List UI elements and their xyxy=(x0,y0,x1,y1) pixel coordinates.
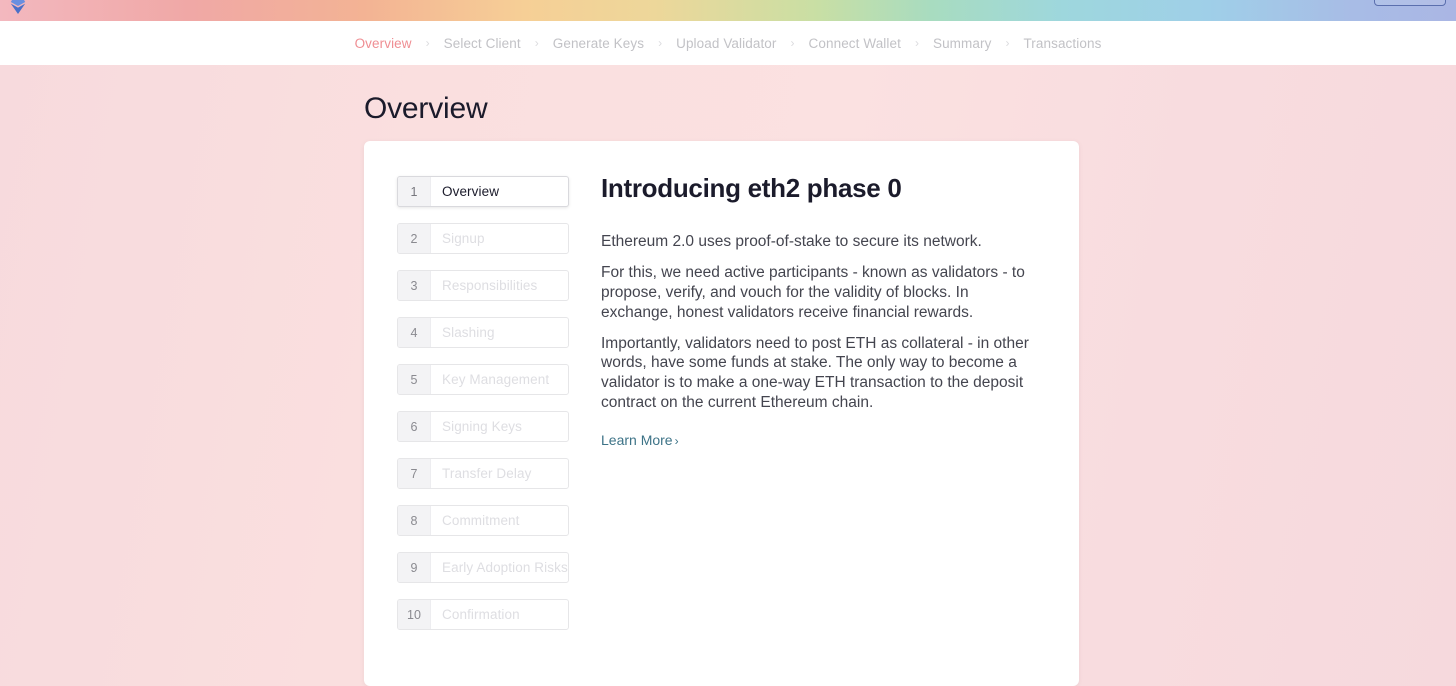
breadcrumb-separator: › xyxy=(779,36,807,50)
step-number: 5 xyxy=(398,365,431,394)
breadcrumb-item-upload-validator[interactable]: Upload Validator xyxy=(674,36,778,51)
learn-more-label: Learn More xyxy=(601,432,673,448)
overview-card: 1Overview2Signup3Responsibilities4Slashi… xyxy=(364,141,1079,686)
breadcrumb-item-select-client[interactable]: Select Client xyxy=(442,36,523,51)
step-label: Slashing xyxy=(431,318,568,347)
step-number: 1 xyxy=(398,177,431,206)
breadcrumb-separator: › xyxy=(993,36,1021,50)
step-item-commitment[interactable]: 8Commitment xyxy=(397,505,569,536)
step-item-early-adoption-risks[interactable]: 9Early Adoption Risks xyxy=(397,552,569,583)
ethereum-logo-icon[interactable] xyxy=(8,0,28,14)
step-item-key-management[interactable]: 5Key Management xyxy=(397,364,569,395)
step-number: 10 xyxy=(398,600,431,629)
step-item-slashing[interactable]: 4Slashing xyxy=(397,317,569,348)
content-body: Ethereum 2.0 uses proof-of-stake to secu… xyxy=(601,232,1039,413)
breadcrumb-item-overview[interactable]: Overview xyxy=(353,36,414,51)
step-label: Transfer Delay xyxy=(431,459,568,488)
content-paragraph: For this, we need active participants - … xyxy=(601,263,1039,322)
step-label: Overview xyxy=(431,177,568,206)
content-paragraph: Ethereum 2.0 uses proof-of-stake to secu… xyxy=(601,232,1039,252)
step-label: Confirmation xyxy=(431,600,568,629)
step-number: 3 xyxy=(398,271,431,300)
step-item-overview[interactable]: 1Overview xyxy=(397,176,569,207)
step-number: 6 xyxy=(398,412,431,441)
breadcrumb-item-generate-keys[interactable]: Generate Keys xyxy=(551,36,646,51)
step-number: 2 xyxy=(398,224,431,253)
step-number: 9 xyxy=(398,553,431,582)
step-item-signup[interactable]: 2Signup xyxy=(397,223,569,254)
breadcrumb: Overview›Select Client›Generate Keys›Upl… xyxy=(353,36,1104,51)
content-panel: Introducing eth2 phase 0 Ethereum 2.0 us… xyxy=(569,173,1079,686)
breadcrumb-item-summary[interactable]: Summary xyxy=(931,36,993,51)
content-paragraph: Importantly, validators need to post ETH… xyxy=(601,334,1039,413)
learn-more-link[interactable]: Learn More› xyxy=(601,432,679,448)
breadcrumb-bar: Overview›Select Client›Generate Keys›Upl… xyxy=(0,21,1456,65)
chevron-right-icon: › xyxy=(675,434,679,448)
breadcrumb-separator: › xyxy=(414,36,442,50)
step-number: 4 xyxy=(398,318,431,347)
app-root: Overview›Select Client›Generate Keys›Upl… xyxy=(0,0,1456,686)
step-item-responsibilities[interactable]: 3Responsibilities xyxy=(397,270,569,301)
breadcrumb-separator: › xyxy=(646,36,674,50)
step-item-transfer-delay[interactable]: 7Transfer Delay xyxy=(397,458,569,489)
page-title: Overview xyxy=(364,92,487,126)
top-gradient-bar xyxy=(0,0,1456,21)
step-label: Responsibilities xyxy=(431,271,568,300)
step-label: Key Management xyxy=(431,365,568,394)
step-item-signing-keys[interactable]: 6Signing Keys xyxy=(397,411,569,442)
step-number: 7 xyxy=(398,459,431,488)
step-label: Signup xyxy=(431,224,568,253)
step-list: 1Overview2Signup3Responsibilities4Slashi… xyxy=(364,173,569,686)
step-label: Signing Keys xyxy=(431,412,568,441)
breadcrumb-separator: › xyxy=(903,36,931,50)
step-number: 8 xyxy=(398,506,431,535)
step-label: Early Adoption Risks xyxy=(431,553,568,582)
breadcrumb-separator: › xyxy=(523,36,551,50)
content-title: Introducing eth2 phase 0 xyxy=(601,173,1039,204)
step-item-confirmation[interactable]: 10Confirmation xyxy=(397,599,569,630)
breadcrumb-item-transactions[interactable]: Transactions xyxy=(1021,36,1103,51)
step-label: Commitment xyxy=(431,506,568,535)
breadcrumb-item-connect-wallet[interactable]: Connect Wallet xyxy=(807,36,903,51)
header-action-button[interactable] xyxy=(1374,0,1446,6)
